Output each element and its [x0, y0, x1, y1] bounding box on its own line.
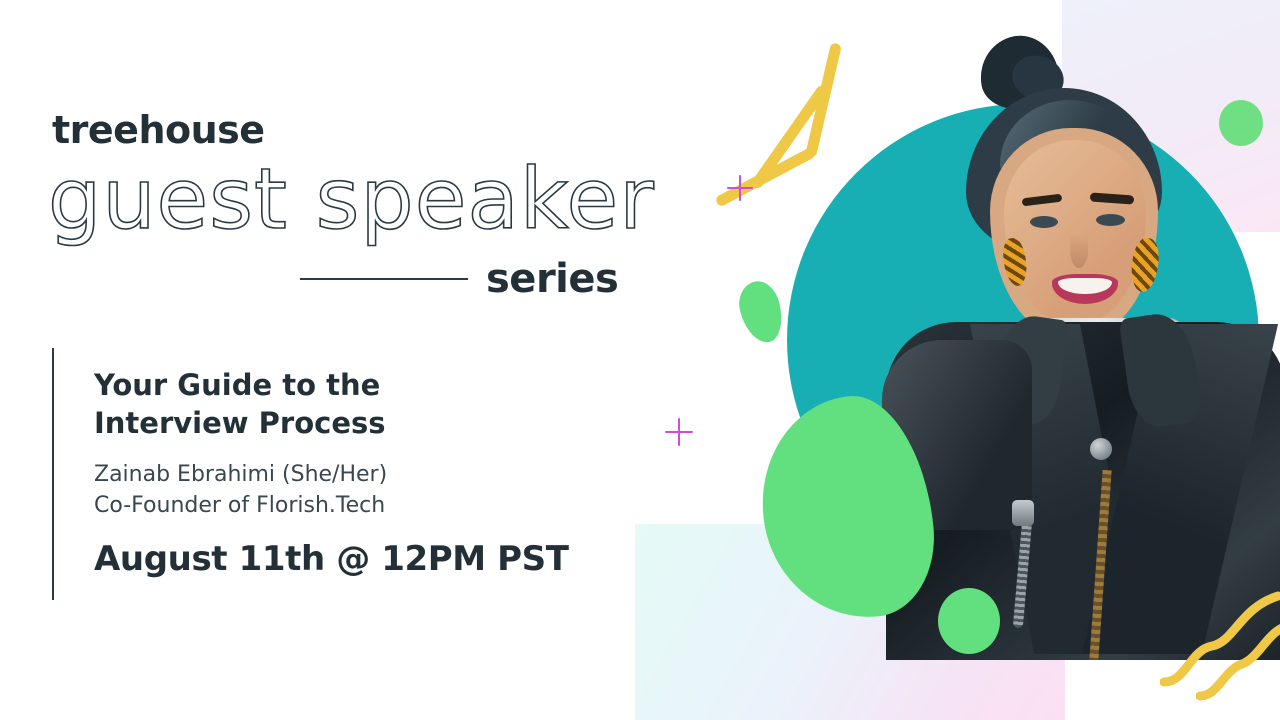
talk-title-line-2: Interview Process — [94, 404, 569, 442]
talk-title: Your Guide to the Interview Process — [94, 366, 569, 443]
plus-icon-upper — [727, 175, 753, 201]
jacket-stud — [1090, 438, 1112, 460]
speaker-name: Zainab Ebrahimi (She/Her) — [94, 459, 569, 490]
event-datetime: August 11th @ 12PM PST — [94, 539, 569, 579]
eye-right — [1096, 214, 1125, 226]
yellow-squiggle-lower — [1196, 620, 1280, 710]
promo-slide: treehouse guest speaker series Your Guid… — [0, 0, 1280, 720]
series-row: series — [300, 256, 618, 302]
talk-title-line-1: Your Guide to the — [94, 366, 569, 404]
page-title: guest speaker — [48, 150, 655, 248]
event-details: Your Guide to the Interview Process Zain… — [52, 348, 569, 600]
green-dot-bottom — [938, 588, 1000, 654]
zipper-pull — [1012, 500, 1034, 526]
series-divider-rule — [300, 278, 468, 280]
nose — [1070, 234, 1088, 268]
green-blob-small — [734, 277, 788, 347]
brand-wordmark: treehouse — [52, 108, 265, 152]
eye-left — [1030, 216, 1058, 228]
plus-icon-lower — [665, 418, 693, 446]
speaker-role: Co-Founder of Florish.Tech — [94, 490, 569, 521]
series-label: series — [486, 256, 618, 302]
